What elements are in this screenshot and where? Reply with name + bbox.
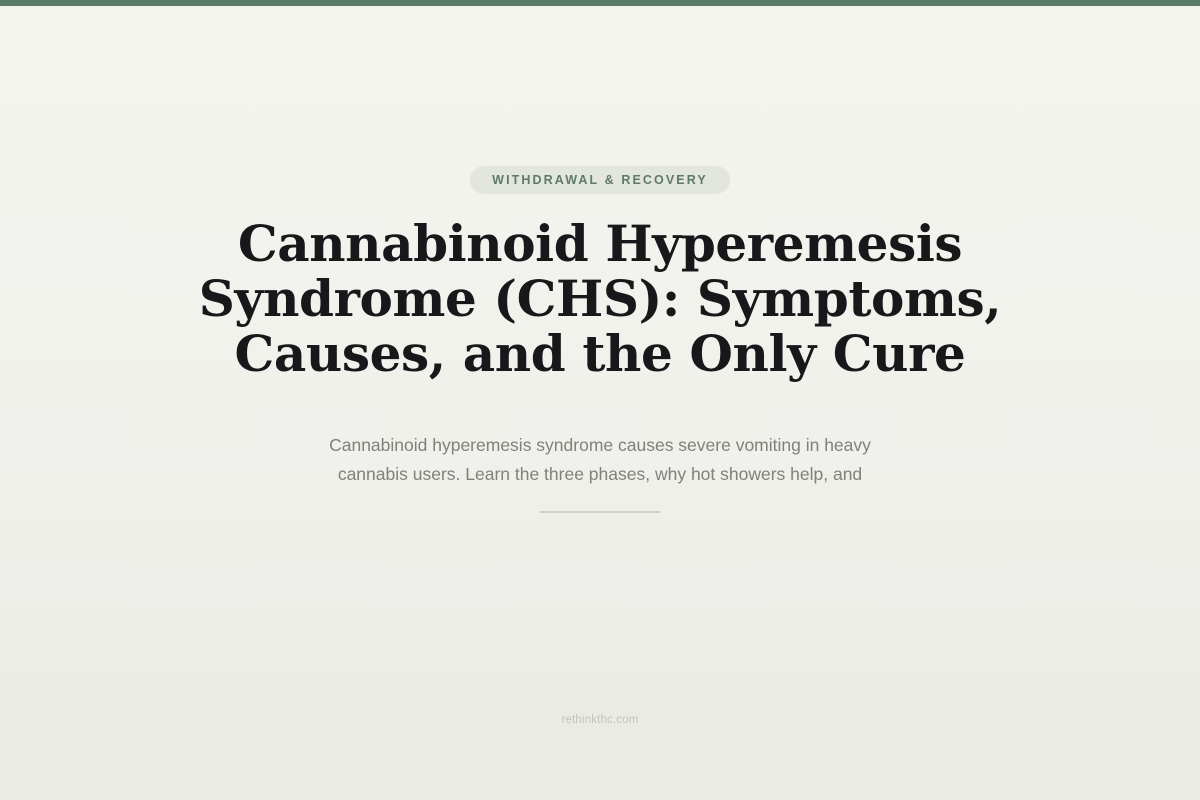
category-badge[interactable]: Withdrawal & Recovery [470, 166, 730, 194]
site-credit-label: rethinkthc.com [562, 715, 639, 727]
page-root: Withdrawal & Recovery Cannabinoid Hypere… [0, 0, 1200, 800]
page-subtitle: Cannabinoid hyperemesis syndrome causes … [300, 431, 900, 489]
page-title: Cannabinoid Hyperemesis Syndrome (CHS): … [160, 216, 1040, 381]
decorative-divider [540, 511, 660, 513]
hero-section: Withdrawal & Recovery Cannabinoid Hypere… [0, 6, 1200, 673]
footer-section: rethinkthc.com [0, 673, 1200, 800]
